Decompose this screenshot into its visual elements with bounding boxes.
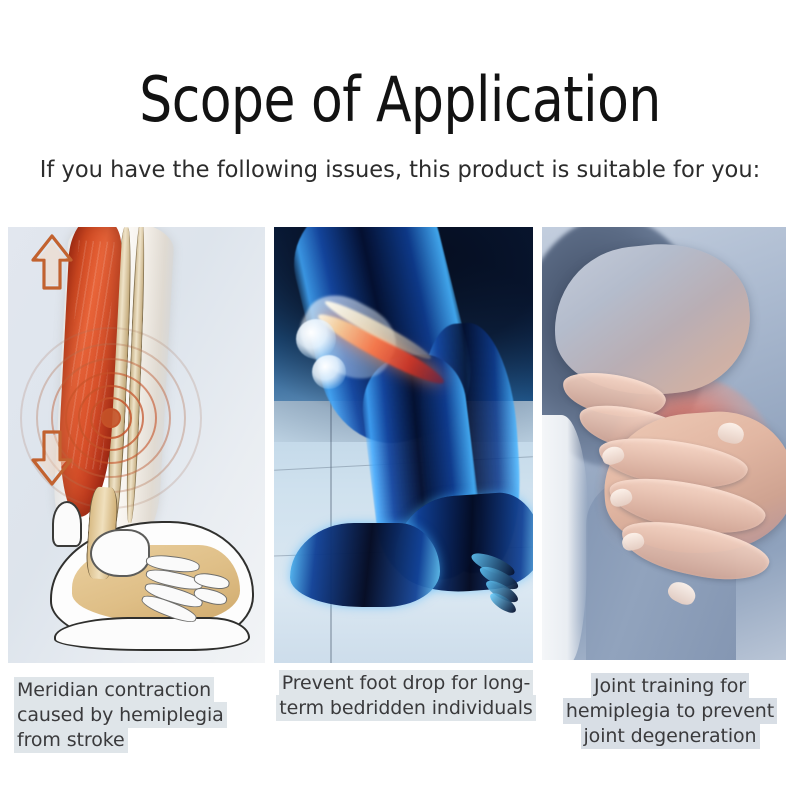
leg-anatomy-illustration [8, 227, 265, 663]
caption-text: Prevent foot drop for long-term bedridde… [276, 670, 535, 721]
caption-text: Joint training for hemiplegia to prevent… [563, 673, 777, 749]
light-orb [312, 355, 346, 389]
xray-front-foot [290, 523, 440, 607]
foot-anatomy-illustration [42, 493, 257, 653]
panel-caption-meridian-contraction: Meridian contraction caused by hemiplegi… [14, 678, 266, 753]
ankle-bone [90, 529, 150, 577]
page-subtitle: If you have the following issues, this p… [8, 155, 792, 185]
page-title: Scope of Application [28, 64, 772, 136]
header: Scope of Application If you have the fol… [0, 0, 800, 210]
panel-foot-drop-image [274, 227, 533, 663]
panel-caption-foot-drop: Prevent foot drop for long-term bedridde… [268, 671, 544, 721]
panel-caption-joint-training: Joint training for hemiplegia to prevent… [544, 674, 796, 749]
shoe-heel-tab [52, 501, 82, 547]
light-orb [296, 319, 336, 359]
panel-joint-training-image [542, 227, 786, 660]
panel-meridian-contraction-image [8, 227, 265, 663]
caption-text: Meridian contraction caused by hemiplegi… [14, 677, 227, 753]
arrow-up-icon [30, 233, 74, 291]
arrow-down-icon [30, 429, 74, 487]
panel-row [0, 227, 800, 664]
vibration-ring [101, 408, 121, 428]
shoe-sole [54, 617, 250, 651]
panel3-highlight [542, 415, 588, 660]
